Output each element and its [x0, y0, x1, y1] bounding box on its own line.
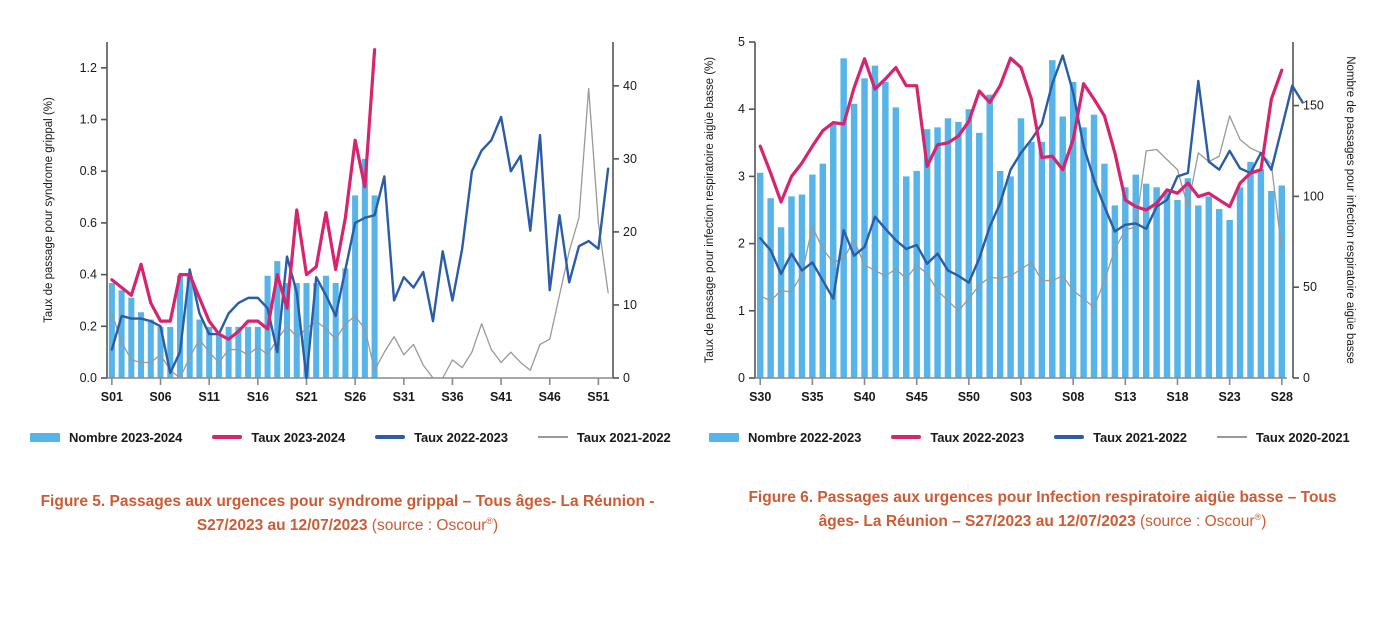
- figure6-caption: Figure 6. Passages aux urgences pour Inf…: [695, 486, 1390, 534]
- bar: [1258, 169, 1264, 378]
- bar: [1268, 191, 1274, 378]
- x-tick-label: S21: [295, 390, 317, 404]
- x-tick-label: S51: [587, 390, 609, 404]
- y-tick-label: 3: [738, 169, 745, 183]
- x-tick-label: S40: [853, 390, 875, 404]
- bar: [913, 171, 919, 378]
- x-tick-label: S30: [749, 390, 771, 404]
- bar: [333, 283, 339, 378]
- bar: [1007, 176, 1013, 378]
- x-tick-label: S08: [1062, 390, 1084, 404]
- bar: [1153, 187, 1159, 378]
- y-tick-label: 0.8: [80, 164, 97, 178]
- bar: [1247, 162, 1253, 378]
- y-tick-label: 0.0: [80, 371, 97, 385]
- y-tick-label: 1.2: [80, 61, 97, 75]
- line-series: [112, 89, 608, 378]
- y2-axis-label: Nombre de passages pour infection respir…: [1344, 56, 1356, 364]
- legend-swatch-line-icon: [1217, 436, 1247, 438]
- x-tick-label: S41: [490, 390, 512, 404]
- bar: [1080, 127, 1086, 378]
- y2-tick-label: 0: [623, 371, 630, 385]
- legend-label: Taux 2022-2023: [414, 430, 508, 445]
- bar: [757, 173, 763, 378]
- bar: [945, 118, 951, 378]
- figure5-caption: Figure 5. Passages aux urgences pour syn…: [0, 490, 695, 538]
- x-tick-label: S46: [539, 390, 561, 404]
- figure5-caption-source: (source : Oscour®): [372, 517, 498, 534]
- y2-tick-label: 30: [623, 152, 637, 166]
- figure6-legend: Nombre 2022-2023 Taux 2022-2023 Taux 202…: [695, 424, 1390, 450]
- bar: [1226, 220, 1232, 378]
- legend-item-taux-3: Taux 2021-2022: [538, 430, 671, 445]
- legend-label: Nombre 2023-2024: [69, 430, 182, 445]
- bar: [255, 327, 261, 378]
- legend-item-taux-2: Taux 2022-2023: [375, 430, 508, 445]
- x-tick-label: S06: [149, 390, 171, 404]
- figure6-caption-source: (source : Oscour®): [1140, 513, 1266, 530]
- x-tick-label: S26: [344, 390, 366, 404]
- bar: [1279, 185, 1285, 378]
- y-tick-label: 0.2: [80, 319, 97, 333]
- x-tick-label: S01: [101, 390, 123, 404]
- y2-tick-label: 40: [623, 79, 637, 93]
- x-tick-label: S50: [958, 390, 980, 404]
- bar: [196, 320, 202, 378]
- legend-swatch-line-icon: [375, 435, 405, 439]
- bar: [1216, 209, 1222, 378]
- figure5-chart-svg: 0.00.20.40.60.81.01.2Taux de passage pou…: [0, 0, 695, 420]
- bar: [148, 320, 154, 378]
- y2-tick-label: 50: [1303, 280, 1317, 294]
- bar: [1091, 115, 1097, 378]
- bar: [799, 195, 805, 378]
- bar: [138, 312, 144, 378]
- y2-tick-label: 100: [1303, 189, 1324, 203]
- legend-label: Taux 2022-2023: [930, 430, 1024, 445]
- legend-label: Taux 2023-2024: [251, 430, 345, 445]
- y-axis-label: Taux de passage pour syndrome grippal (%…: [43, 97, 55, 323]
- figure5-plot: 0.00.20.40.60.81.01.2Taux de passage pou…: [0, 0, 695, 420]
- bar: [1122, 187, 1128, 378]
- bar: [778, 227, 784, 378]
- legend-swatch-line-icon: [212, 435, 242, 439]
- bar: [840, 58, 846, 378]
- y-tick-label: 1.0: [80, 113, 97, 127]
- bar: [767, 198, 773, 378]
- bar: [809, 175, 815, 378]
- legend-item-taux-1: Taux 2023-2024: [212, 430, 345, 445]
- bar: [966, 109, 972, 378]
- y2-tick-label: 0: [1303, 371, 1310, 385]
- legend-swatch-line-icon: [891, 435, 921, 439]
- bar: [861, 78, 867, 378]
- legend-item-taux-2: Taux 2021-2022: [1054, 430, 1187, 445]
- legend-label: Nombre 2022-2023: [748, 430, 861, 445]
- bar: [1237, 187, 1243, 378]
- x-tick-label: S36: [441, 390, 463, 404]
- x-tick-label: S11: [198, 390, 220, 404]
- figure5-caption-title: Figure 5. Passages aux urgences pour syn…: [41, 493, 655, 534]
- legend-item-taux-3: Taux 2020-2021: [1217, 430, 1350, 445]
- y-axis-label: Taux de passage pour infection respirato…: [704, 57, 716, 363]
- x-tick-label: S31: [393, 390, 415, 404]
- x-tick-label: S23: [1219, 390, 1241, 404]
- bar: [1206, 196, 1212, 378]
- y-tick-label: 0.6: [80, 216, 97, 230]
- bar: [1039, 142, 1045, 378]
- bar: [1195, 205, 1201, 378]
- x-tick-label: S16: [247, 390, 269, 404]
- bar: [216, 334, 222, 378]
- y-tick-label: 2: [738, 237, 745, 251]
- bar: [109, 283, 115, 378]
- y2-tick-label: 10: [623, 298, 637, 312]
- y-tick-label: 0.4: [80, 268, 97, 282]
- x-tick-label: S18: [1166, 390, 1188, 404]
- bar: [955, 122, 961, 378]
- x-tick-label: S35: [801, 390, 823, 404]
- y-tick-label: 0: [738, 371, 745, 385]
- figure6-plot: 012345Taux de passage pour infection res…: [695, 0, 1390, 420]
- legend-label: Taux 2021-2022: [577, 430, 671, 445]
- legend-item-taux-1: Taux 2022-2023: [891, 430, 1024, 445]
- bar: [1049, 60, 1055, 378]
- x-tick-label: S03: [1010, 390, 1032, 404]
- bar: [1164, 191, 1170, 378]
- legend-swatch-line-icon: [1054, 435, 1084, 439]
- figure5-legend: Nombre 2023-2024 Taux 2023-2024 Taux 202…: [0, 424, 725, 450]
- figure6-panel: 012345Taux de passage pour infection res…: [695, 0, 1390, 626]
- bar: [1028, 142, 1034, 378]
- figure6-chart-svg: 012345Taux de passage pour infection res…: [695, 0, 1390, 420]
- y-tick-label: 1: [738, 304, 745, 318]
- bar: [128, 298, 134, 378]
- y-tick-label: 4: [738, 102, 745, 116]
- bar: [372, 195, 378, 378]
- legend-label: Taux 2020-2021: [1256, 430, 1350, 445]
- y2-tick-label: 20: [623, 225, 637, 239]
- legend-swatch-line-icon: [538, 436, 568, 438]
- bar: [1174, 200, 1180, 378]
- legend-item-nombre: Nombre 2022-2023: [709, 430, 861, 445]
- bar: [1101, 164, 1107, 378]
- legend-label: Taux 2021-2022: [1093, 430, 1187, 445]
- figures-page: 0.00.20.40.60.81.01.2Taux de passage pou…: [0, 0, 1390, 626]
- x-tick-label: S13: [1114, 390, 1136, 404]
- figure5-panel: 0.00.20.40.60.81.01.2Taux de passage pou…: [0, 0, 695, 626]
- bar: [820, 164, 826, 378]
- legend-item-nombre: Nombre 2023-2024: [30, 430, 182, 445]
- y-tick-label: 5: [738, 35, 745, 49]
- legend-swatch-bar-icon: [30, 433, 60, 442]
- bar: [1143, 184, 1149, 378]
- bar: [1059, 116, 1065, 378]
- legend-swatch-bar-icon: [709, 433, 739, 442]
- x-tick-label: S45: [906, 390, 928, 404]
- bar: [830, 124, 836, 378]
- bar: [1185, 178, 1191, 378]
- y2-tick-label: 150: [1303, 99, 1324, 113]
- x-tick-label: S28: [1271, 390, 1293, 404]
- bar: [362, 159, 368, 378]
